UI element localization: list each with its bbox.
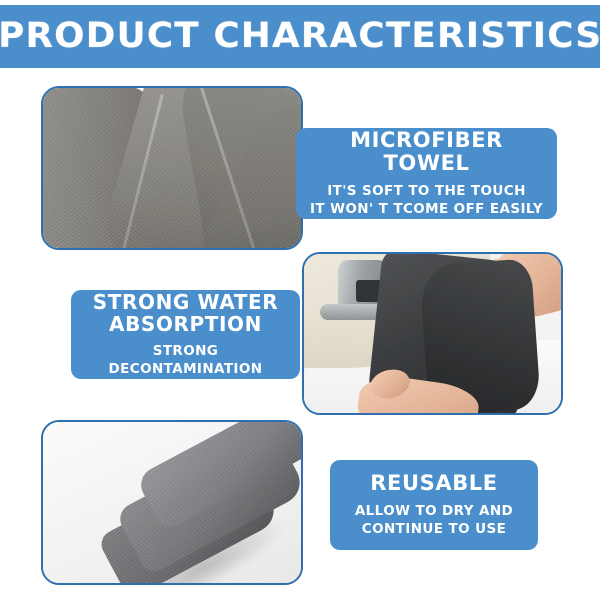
- product-characteristics-infographic: PRODUCT CHARACTERISTICS MICROFIBER TOWEL…: [0, 0, 600, 600]
- feature-subtitle-water-absorption: STRONG DECONTAMINATION: [81, 342, 290, 378]
- feature-photo-microfiber-towel: [41, 86, 303, 250]
- feature-callout-water-absorption: STRONG WATER ABSORPTION STRONG DECONTAMI…: [71, 290, 300, 379]
- photo-microfiber-towel-artwork: [43, 88, 301, 248]
- feature-title-reusable: REUSABLE: [370, 472, 497, 495]
- page-title: PRODUCT CHARACTERISTICS: [0, 19, 600, 54]
- feature-callout-reusable: REUSABLE ALLOW TO DRY AND CONTINUE TO US…: [330, 460, 538, 550]
- feature-photo-water-absorption: [302, 252, 563, 415]
- feature-subtitle-reusable: ALLOW TO DRY AND CONTINUE TO USE: [355, 502, 513, 538]
- feature-title-microfiber-towel: MICROFIBER TOWEL: [306, 129, 547, 175]
- feature-subtitle-microfiber-towel: IT'S SOFT TO THE TOUCH IT WON' T TCOME O…: [310, 182, 543, 218]
- feature-photo-reusable: [41, 420, 303, 585]
- header-banner: PRODUCT CHARACTERISTICS: [0, 5, 600, 68]
- photo-reusable-artwork: [43, 422, 301, 583]
- feature-title-water-absorption: STRONG WATER ABSORPTION: [93, 291, 279, 335]
- feature-callout-microfiber-towel: MICROFIBER TOWEL IT'S SOFT TO THE TOUCH …: [296, 128, 557, 219]
- photo-water-absorption-artwork: [304, 254, 561, 413]
